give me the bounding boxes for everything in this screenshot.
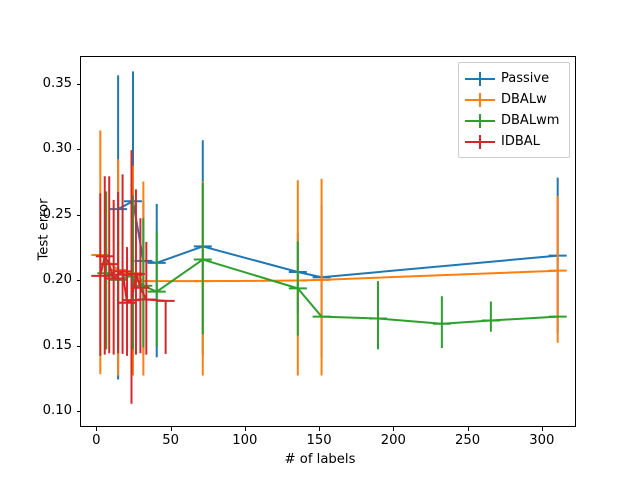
legend-item-dbalw[interactable]: DBALw (465, 89, 563, 110)
x-tick-label: 100 (215, 433, 275, 448)
y-tick-mark (77, 280, 81, 281)
x-tick-mark (96, 427, 97, 431)
x-tick-label: 150 (289, 433, 349, 448)
y-tick-label: 0.15 (20, 338, 72, 353)
x-tick-mark (245, 427, 246, 431)
legend-item-dbalwm[interactable]: DBALwm (465, 110, 563, 131)
x-axis-label: # of labels (0, 452, 640, 467)
x-tick-label: 50 (141, 433, 201, 448)
x-tick-mark (171, 427, 172, 431)
legend-label: DBALw (501, 93, 547, 106)
y-axis-label: Test error (37, 150, 52, 310)
figure: 0.100.150.200.250.300.35 050100150200250… (0, 0, 640, 480)
series-dbalw (91, 130, 566, 375)
legend-item-idbal[interactable]: IDBAL (465, 131, 563, 152)
y-tick-mark (77, 84, 81, 85)
legend: PassiveDBALwDBALwmIDBAL (458, 62, 570, 158)
y-tick-mark (77, 411, 81, 412)
y-tick-label: 0.10 (20, 403, 72, 418)
x-tick-mark (468, 427, 469, 431)
legend-label: IDBAL (501, 135, 540, 148)
legend-marker-icon (465, 91, 495, 109)
x-tick-label: 0 (66, 433, 126, 448)
series-dbalwm (97, 183, 566, 349)
y-tick-label: 0.35 (20, 76, 72, 91)
legend-marker-icon (465, 133, 495, 151)
x-tick-label: 200 (363, 433, 423, 448)
legend-label: DBALwm (501, 114, 559, 127)
y-tick-mark (77, 346, 81, 347)
y-tick-mark (77, 149, 81, 150)
x-tick-mark (319, 427, 320, 431)
legend-marker-icon (465, 70, 495, 88)
legend-item-passive[interactable]: Passive (465, 68, 563, 89)
legend-label: Passive (501, 72, 549, 85)
y-tick-mark (77, 215, 81, 216)
x-tick-mark (393, 427, 394, 431)
series-line (118, 201, 558, 277)
legend-marker-icon (465, 112, 495, 130)
x-tick-label: 250 (438, 433, 498, 448)
x-tick-label: 300 (512, 433, 572, 448)
x-tick-mark (542, 427, 543, 431)
